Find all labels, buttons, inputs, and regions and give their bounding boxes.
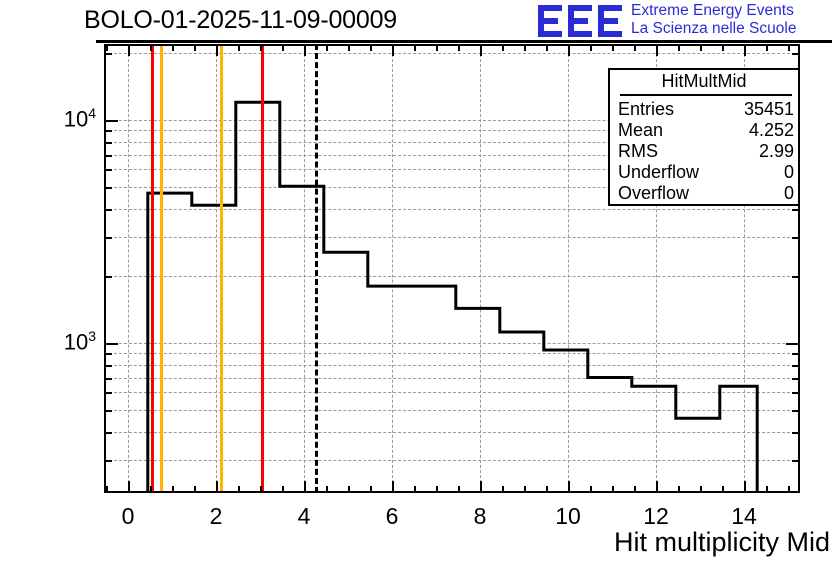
y-axis-tick (792, 392, 800, 394)
x-axis-tick (744, 481, 746, 493)
y-axis-tick (792, 53, 800, 55)
y-axis-tick (792, 365, 800, 367)
plot-canvas: BOLO-01-2025-11-09-00009 Extreme Energy … (0, 0, 836, 572)
page-title: BOLO-01-2025-11-09-00009 (84, 6, 397, 35)
x-axis-tick (722, 486, 724, 493)
y-axis-tick (792, 353, 800, 355)
x-axis-tick (282, 44, 284, 51)
y-axis-tick (104, 142, 112, 144)
y-axis-tick (104, 169, 112, 171)
x-axis-tick (458, 44, 460, 51)
x-axis-tick (766, 486, 768, 493)
x-axis-tick (722, 44, 724, 51)
x-axis-tick (216, 481, 218, 493)
stats-key: Underflow (618, 162, 699, 183)
x-axis-tick (546, 486, 548, 493)
x-axis-tick (194, 486, 196, 493)
x-axis-tick-label: 8 (450, 503, 510, 530)
y-axis-tick (104, 120, 118, 122)
y-axis-tick (792, 378, 800, 380)
x-axis-tick (414, 486, 416, 493)
logo-line-2: La Scienza nelle Scuole (631, 20, 836, 38)
x-axis-tick (480, 481, 482, 493)
x-axis-tick-label: 6 (362, 503, 422, 530)
x-axis-tick (128, 481, 130, 493)
x-axis-tick (326, 44, 328, 51)
x-axis-tick (106, 486, 108, 493)
x-axis-tick (502, 486, 504, 493)
stats-key: RMS (618, 141, 658, 162)
stats-box: HitMultMid Entries35451Mean4.252RMS2.99U… (608, 68, 800, 206)
x-axis-tick (700, 486, 702, 493)
x-axis-tick (634, 44, 636, 51)
x-axis-tick (260, 44, 262, 51)
x-axis-tick (172, 44, 174, 51)
stats-key: Mean (618, 120, 663, 141)
x-axis-tick (568, 481, 570, 493)
x-axis-tick (568, 44, 570, 56)
x-axis-tick (612, 44, 614, 51)
y-axis-tick (104, 187, 112, 189)
stats-value: 0 (784, 162, 794, 183)
x-axis-tick (524, 44, 526, 51)
x-axis-tick (370, 486, 372, 493)
x-axis-tick (172, 486, 174, 493)
y-axis-tick (104, 155, 112, 157)
x-axis-tick (700, 44, 702, 51)
y-axis-tick (104, 276, 112, 278)
x-axis-title: Hit multiplicity Mid (560, 527, 830, 558)
stats-value: 0 (784, 183, 794, 204)
x-axis-tick (370, 44, 372, 51)
y-axis-tick (104, 209, 112, 211)
y-axis-tick (104, 365, 112, 367)
x-axis-tick (150, 486, 152, 493)
x-axis-tick (414, 44, 416, 51)
x-axis-tick (524, 486, 526, 493)
y-axis-tick-label: 104 (28, 105, 96, 132)
x-axis-tick (392, 44, 394, 56)
x-axis-tick (744, 44, 746, 56)
x-axis-tick-label: 14 (714, 503, 774, 530)
x-axis-tick (612, 486, 614, 493)
y-axis-tick (104, 53, 112, 55)
x-axis-tick (216, 44, 218, 56)
stats-value: 35451 (744, 99, 794, 120)
x-axis-tick (326, 486, 328, 493)
y-axis-tick (792, 237, 800, 239)
y-axis-tick (104, 378, 112, 380)
y-axis-tick (792, 209, 800, 211)
x-axis-tick (788, 486, 790, 493)
x-axis-tick-label: 12 (626, 503, 686, 530)
y-axis-tick (104, 410, 112, 412)
x-axis-tick (194, 44, 196, 51)
x-axis-tick (348, 486, 350, 493)
x-axis-tick-label: 0 (98, 503, 158, 530)
y-axis-tick (786, 343, 800, 345)
y-axis-tick (792, 432, 800, 434)
y-axis-tick (104, 343, 118, 345)
stats-value: 2.99 (759, 141, 794, 162)
x-axis-tick (436, 44, 438, 51)
eee-logo-mark (537, 3, 625, 39)
x-axis-tick (436, 486, 438, 493)
x-axis-tick (656, 44, 658, 56)
x-axis-tick (392, 481, 394, 493)
x-axis-tick (502, 44, 504, 51)
eee-logo: Extreme Energy Events La Scienza nelle S… (537, 2, 832, 42)
y-axis-tick (104, 432, 112, 434)
x-axis-tick (634, 486, 636, 493)
x-axis-tick (260, 486, 262, 493)
x-axis-tick (678, 486, 680, 493)
stats-title-divider (620, 94, 792, 96)
x-axis-tick (766, 44, 768, 51)
x-axis-tick (590, 486, 592, 493)
x-axis-tick (150, 44, 152, 51)
stats-row: Entries35451 (618, 99, 794, 120)
x-axis-tick (304, 481, 306, 493)
x-axis-tick (656, 481, 658, 493)
y-axis-tick (104, 392, 112, 394)
y-axis-tick (792, 460, 800, 462)
stats-row: Overflow0 (618, 183, 794, 204)
y-axis-tick (104, 460, 112, 462)
x-axis-tick (678, 44, 680, 51)
stats-value: 4.252 (749, 120, 794, 141)
y-axis-tick-label: 103 (28, 328, 96, 355)
stats-row: Mean4.252 (618, 120, 794, 141)
stats-row: Underflow0 (618, 162, 794, 183)
stats-row: RMS2.99 (618, 141, 794, 162)
y-axis-tick (792, 276, 800, 278)
y-axis-tick (104, 237, 112, 239)
x-axis-tick (348, 44, 350, 51)
x-axis-tick (480, 44, 482, 56)
x-axis-tick-label: 10 (538, 503, 598, 530)
stats-key: Overflow (618, 183, 689, 204)
x-axis-tick (238, 44, 240, 51)
y-axis-tick (104, 130, 112, 132)
x-axis-tick (458, 486, 460, 493)
x-axis-tick-label: 2 (186, 503, 246, 530)
x-axis-tick (106, 44, 108, 51)
stats-box-title: HitMultMid (610, 71, 798, 92)
x-axis-tick (304, 44, 306, 56)
logo-line-1: Extreme Energy Events (631, 2, 836, 20)
x-axis-tick (238, 486, 240, 493)
x-axis-tick (546, 44, 548, 51)
x-axis-tick (590, 44, 592, 51)
y-axis-tick (104, 353, 112, 355)
x-axis-tick-label: 4 (274, 503, 334, 530)
y-axis-tick (792, 410, 800, 412)
x-axis-tick (128, 44, 130, 56)
x-axis-tick (282, 486, 284, 493)
x-axis-tick (788, 44, 790, 51)
stats-key: Entries (618, 99, 674, 120)
header-divider (96, 40, 832, 43)
